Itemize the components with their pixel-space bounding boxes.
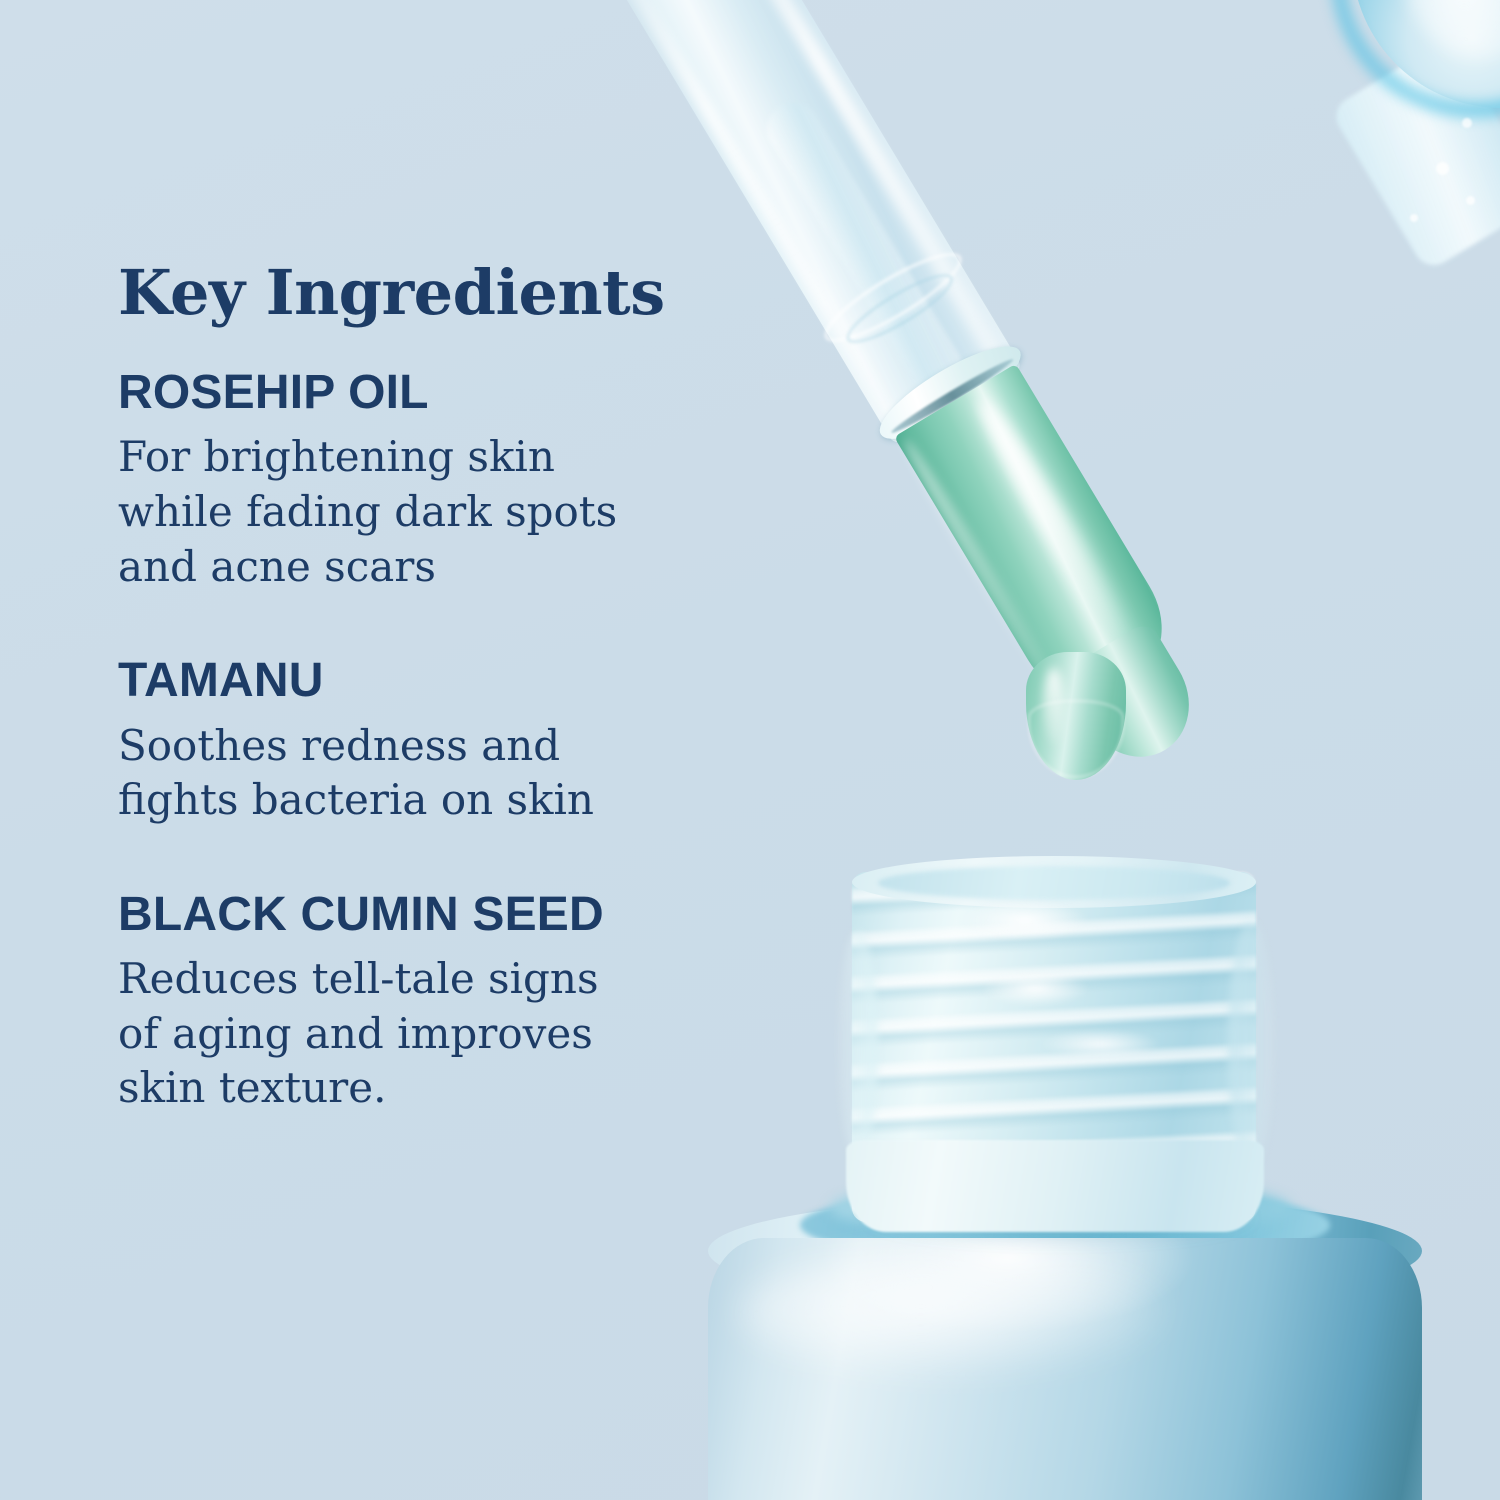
description-line: of aging and improves xyxy=(118,1007,798,1062)
ingredient-description: Reduces tell-tale signs of aging and imp… xyxy=(118,952,798,1116)
description-line: Reduces tell-tale signs xyxy=(118,952,798,1007)
condensation-bubble xyxy=(1436,162,1449,175)
neck-base-flange xyxy=(846,1140,1264,1232)
neck-specular-highlight-3 xyxy=(1040,1030,1160,1058)
neck-specular-highlight-1 xyxy=(960,900,1090,940)
ingredient-name: ROSEHIP OIL xyxy=(118,368,798,418)
neck-thread-edge-right xyxy=(1228,920,1274,1170)
ingredient-item-black-cumin-seed: BLACK CUMIN SEED Reduces tell-tale signs… xyxy=(118,890,798,1116)
description-line: and acne scars xyxy=(118,540,798,595)
condensation-bubble xyxy=(1466,196,1475,205)
neck-thread-edge-left xyxy=(838,930,878,1160)
ingredient-item-tamanu: TAMANU Soothes redness and fights bacter… xyxy=(118,656,798,828)
serum-droplet-highlight xyxy=(1044,668,1064,744)
product-image-canvas: Key Ingredients ROSEHIP OIL For brighten… xyxy=(0,0,1500,1500)
bottle-shoulder-highlight xyxy=(740,1248,1170,1378)
condensation-bubble xyxy=(1462,118,1472,128)
description-line: while fading dark spots xyxy=(118,485,798,540)
ingredient-description: For brightening skin while fading dark s… xyxy=(118,430,798,594)
ingredient-name: TAMANU xyxy=(118,656,798,706)
condensation-bubble xyxy=(1410,214,1418,222)
description-line: Soothes redness and xyxy=(118,719,798,774)
description-line: For brightening skin xyxy=(118,430,798,485)
ingredient-name: BLACK CUMIN SEED xyxy=(118,890,798,940)
ingredient-description: Soothes redness and fights bacteria on s… xyxy=(118,719,798,828)
bottle-mouth-opening xyxy=(878,866,1230,900)
key-ingredients-panel: Key Ingredients ROSEHIP OIL For brighten… xyxy=(118,262,798,1116)
description-line: fights bacteria on skin xyxy=(118,773,798,828)
description-line: skin texture. xyxy=(118,1061,798,1116)
page-title: Key Ingredients xyxy=(118,262,798,324)
neck-specular-highlight-2 xyxy=(980,972,1090,1006)
ingredient-item-rosehip-oil: ROSEHIP OIL For brightening skin while f… xyxy=(118,368,798,594)
